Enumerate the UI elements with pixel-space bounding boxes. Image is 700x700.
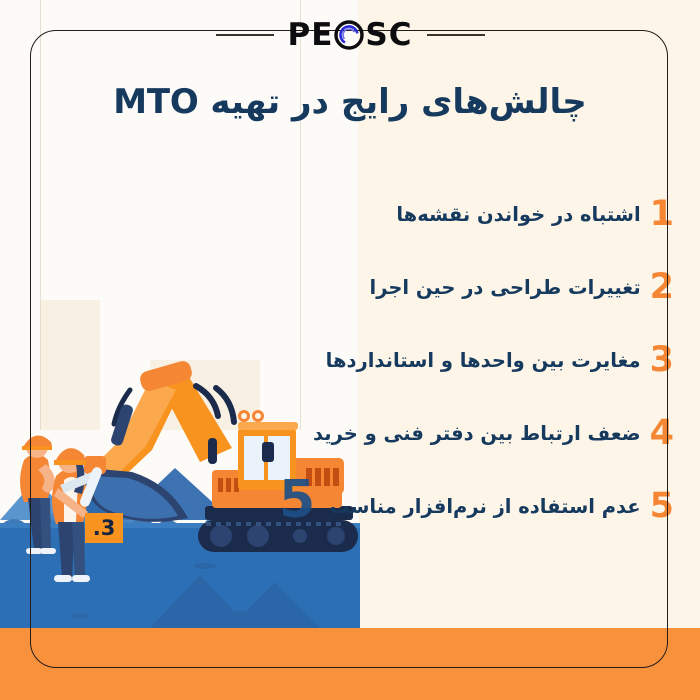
logo-text-right: PE: [288, 20, 334, 51]
illustration-badge: 3.: [85, 513, 123, 543]
horizontal-rule-icon: [427, 34, 485, 36]
list-item-label: تغییرات طراحی در حین اجرا: [370, 275, 641, 300]
bottom-accent-band: [0, 628, 700, 700]
logo-text-left: SC: [365, 20, 412, 51]
list-item: 2 تغییرات طراحی در حین اجرا: [274, 251, 674, 324]
scope-logo[interactable]: SC PE: [288, 20, 413, 51]
poster-canvas: 3. 5 SC PE چالش‌های رایج در تهیه MTO 1 ا…: [0, 0, 700, 700]
list-item-label: عدم استفاده از نرم‌افزار مناسب: [330, 494, 641, 519]
list-item-number: 3: [650, 343, 674, 378]
list-item-number: 5: [650, 489, 674, 524]
list-item-number: 4: [650, 416, 674, 451]
list-item-label: مغایرت بین واحدها و استانداردها: [326, 348, 641, 373]
list-item-label: اشتباه در خواندن نقشه‌ها: [396, 202, 640, 227]
circle-crescent-icon: [334, 20, 364, 50]
list-item: 4 ضعف ارتباط بین دفتر فنی و خرید: [274, 397, 674, 470]
list-item-number: 2: [650, 270, 674, 305]
list-item-label: ضعف ارتباط بین دفتر فنی و خرید: [313, 421, 641, 446]
list-item: 3 مغایرت بین واحدها و استانداردها: [274, 324, 674, 397]
horizontal-rule-icon: [216, 34, 274, 36]
challenges-list: 1 اشتباه در خواندن نقشه‌ها 2 تغییرات طرا…: [274, 178, 674, 543]
list-item-number: 1: [650, 197, 674, 232]
page-title: چالش‌های رایج در تهیه MTO: [60, 78, 640, 127]
header-bar: SC PE: [0, 12, 700, 58]
list-item: 1 اشتباه در خواندن نقشه‌ها: [274, 178, 674, 251]
list-item: 5 عدم استفاده از نرم‌افزار مناسب: [274, 470, 674, 543]
